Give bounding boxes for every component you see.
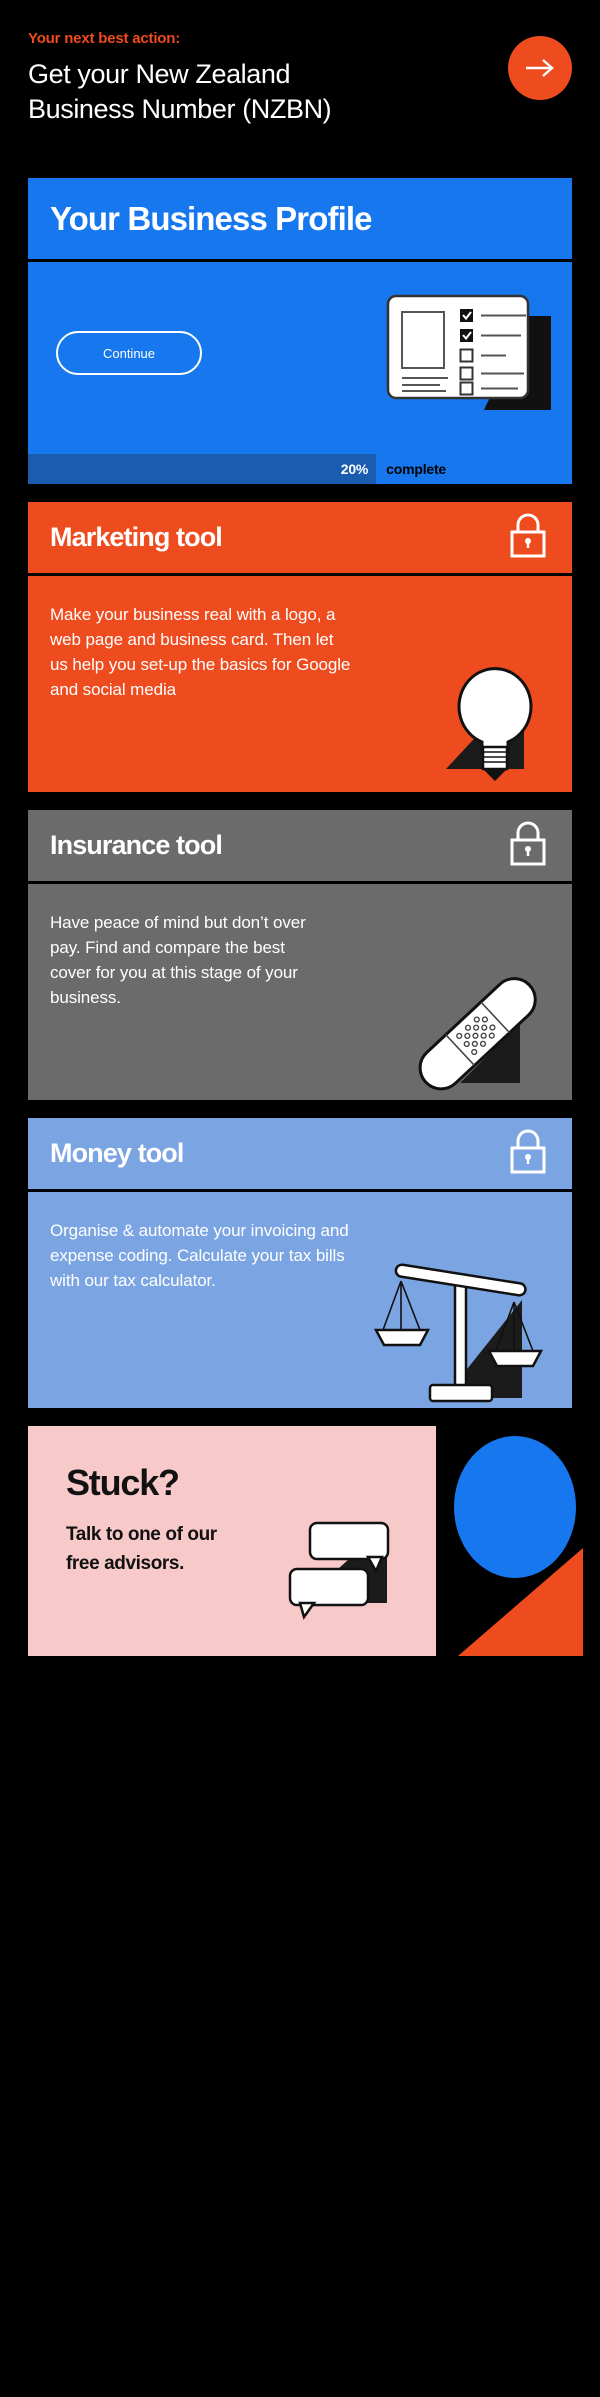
lock-icon bbox=[506, 511, 550, 564]
marketing-tool-copy: Make your business real with a logo, a w… bbox=[50, 602, 355, 703]
stuck-card[interactable]: Stuck? Talk to one of our free advisors. bbox=[28, 1426, 436, 1656]
next-action-button[interactable] bbox=[508, 36, 572, 100]
money-tool-header: Money tool bbox=[28, 1118, 572, 1192]
lightbulb-illustration bbox=[412, 647, 572, 792]
lock-icon bbox=[506, 819, 550, 872]
stuck-decoration bbox=[454, 1426, 572, 1656]
scales-illustration bbox=[372, 1248, 572, 1408]
continue-button[interactable]: Continue bbox=[56, 331, 202, 375]
money-tool-copy: Organise & automate your invoicing and e… bbox=[50, 1218, 350, 1293]
insurance-tool-header: Insurance tool bbox=[28, 810, 572, 884]
business-profile-title: Your Business Profile bbox=[50, 200, 372, 238]
stuck-title: Stuck? bbox=[28, 1426, 436, 1504]
speech-bubbles-illustration bbox=[282, 1517, 412, 1632]
bandaid-illustration bbox=[382, 945, 572, 1100]
marketing-tool-title: Marketing tool bbox=[50, 522, 222, 553]
hero-banner: Your next best action: Get your New Zeal… bbox=[0, 0, 600, 178]
marketing-tool-body: Make your business real with a logo, a w… bbox=[28, 576, 572, 792]
progress-bar: 20% complete bbox=[28, 454, 572, 484]
insurance-tool-body: Have peace of mind but don’t over pay. F… bbox=[28, 884, 572, 1100]
insurance-tool-title: Insurance tool bbox=[50, 830, 222, 861]
stuck-subtitle: Talk to one of our free advisors. bbox=[28, 1504, 228, 1579]
money-tool-body: Organise & automate your invoicing and e… bbox=[28, 1192, 572, 1408]
page-title: Get your New Zealand Business Number (NZ… bbox=[28, 57, 368, 126]
business-profile-header: Your Business Profile bbox=[28, 178, 572, 262]
money-tool-title: Money tool bbox=[50, 1138, 184, 1169]
money-tool-card[interactable]: Money tool Organise & automate your invo… bbox=[28, 1118, 572, 1408]
stuck-section: Stuck? Talk to one of our free advisors. bbox=[28, 1426, 572, 1656]
marketing-tool-card[interactable]: Marketing tool Make your business real w… bbox=[28, 502, 572, 792]
lock-icon bbox=[506, 1127, 550, 1180]
progress-percent: 20% bbox=[28, 454, 376, 484]
business-profile-body: Continue bbox=[28, 262, 572, 454]
arrow-right-icon bbox=[525, 57, 555, 79]
insurance-tool-copy: Have peace of mind but don’t over pay. F… bbox=[50, 910, 330, 1011]
insurance-tool-card[interactable]: Insurance tool Have peace of mind but do… bbox=[28, 810, 572, 1100]
hero-kicker: Your next best action: bbox=[28, 30, 572, 48]
business-profile-card[interactable]: Your Business Profile Continue bbox=[28, 178, 572, 484]
progress-label: complete bbox=[386, 461, 446, 477]
checklist-card-illustration bbox=[378, 282, 564, 427]
blue-circle-decor bbox=[454, 1436, 576, 1578]
marketing-tool-header: Marketing tool bbox=[28, 502, 572, 576]
